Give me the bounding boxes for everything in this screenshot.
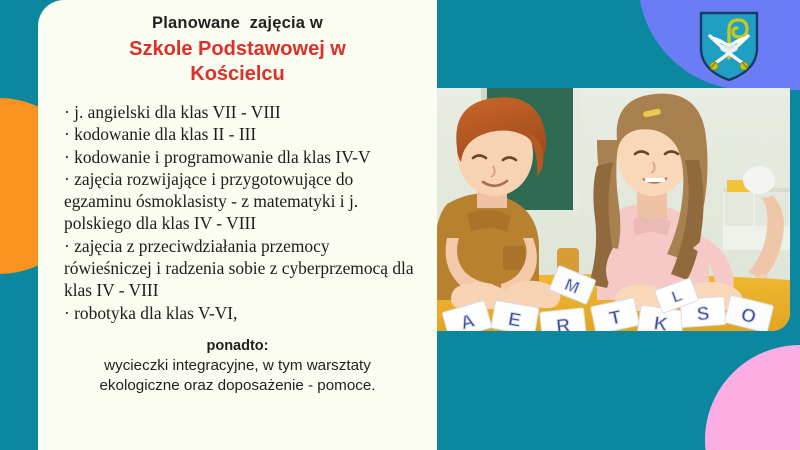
- footer-heading: ponadto:: [80, 338, 395, 354]
- svg-text:R: R: [555, 315, 571, 331]
- activity-list: j. angielski dla klas VII - VIII kodowan…: [56, 101, 419, 324]
- content-card: Planowane zajęcia w Szkole Podstawowej w…: [38, 0, 437, 450]
- list-item: zajęcia rozwijające i przygotowujące do …: [64, 168, 417, 235]
- svg-text:K: K: [652, 313, 669, 331]
- page-title-line2: Szkole Podstawowej w Kościelcu: [56, 37, 419, 87]
- footer-text: wycieczki integracyjne, w tym warsztaty …: [80, 356, 395, 397]
- list-item: robotyka dla klas V-VI,: [64, 302, 417, 324]
- footer-section: ponadto: wycieczki integracyjne, w tym w…: [56, 338, 419, 397]
- list-item: zajęcia z przeciwdziałania przemocy rówi…: [64, 235, 417, 302]
- list-item: kodowanie dla klas II - III: [64, 123, 417, 145]
- coat-of-arms-icon: [698, 10, 760, 82]
- pink-circle-decoration: [705, 345, 800, 450]
- children-with-letter-cards-photo: A E R M T K S O L: [437, 88, 790, 331]
- list-item: j. angielski dla klas VII - VIII: [64, 101, 417, 123]
- list-item: kodowanie i programowanie dla klas IV-V: [64, 146, 417, 168]
- page-title-line1: Planowane zajęcia w: [56, 14, 419, 33]
- poster: A E R M T K S O L: [0, 0, 800, 450]
- svg-text:S: S: [696, 304, 710, 326]
